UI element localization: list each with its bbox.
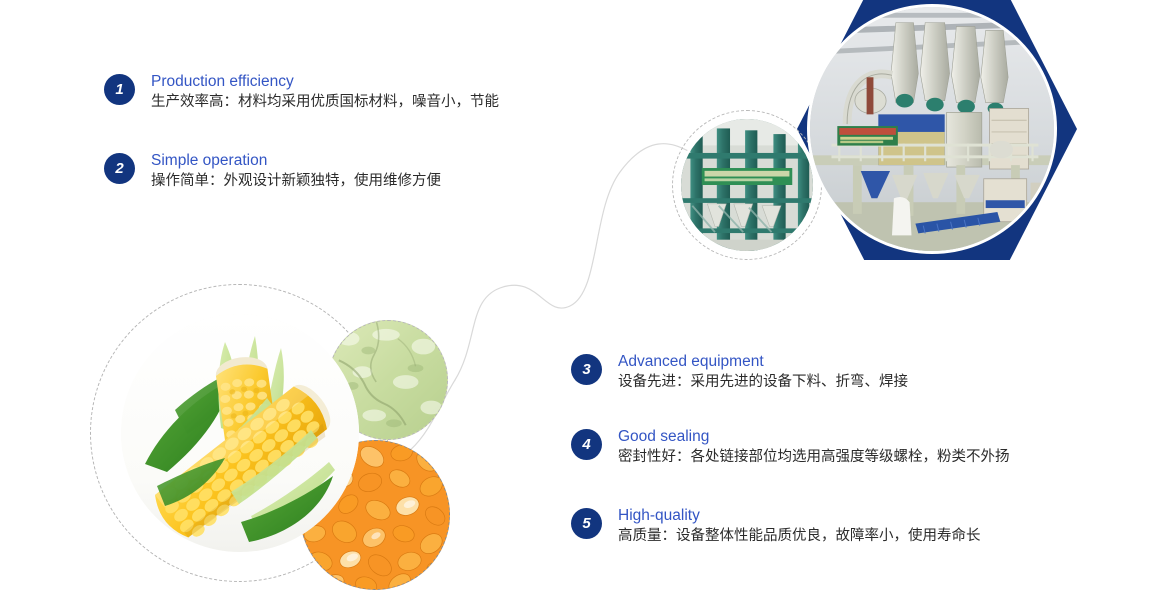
feature-text-block: Simple operation 操作简单：外观设计新颖独特，使用维修方便 [151,151,441,192]
feature-number-badge: 1 [104,74,135,105]
produce-photo-group [88,280,478,591]
feature-title: Simple operation [151,151,441,170]
feature-description: 高质量：设备整体性能品质优良，故障率小，使用寿命长 [618,526,981,547]
feature-text-block: Production efficiency 生产效率高：材料均采用优质国标材料，… [151,72,499,113]
hexagon-photo-group [672,0,1154,270]
feature-title: Production efficiency [151,72,499,91]
feature-description: 操作简单：外观设计新颖独特，使用维修方便 [151,171,441,192]
feature-number-badge: 5 [571,508,602,539]
feature-description: 设备先进：采用先进的设备下料、折弯、焊接 [618,372,908,393]
feature-item-3[interactable]: 3 Advanced equipment 设备先进：采用先进的设备下料、折弯、焊… [571,352,908,393]
feature-number-badge: 2 [104,153,135,184]
corn-cob-photo [121,314,359,552]
feature-number-badge: 4 [571,429,602,460]
flour-mill-photo [807,4,1057,254]
feature-title: High-quality [618,506,981,525]
feature-title: Good sealing [618,427,1010,446]
feature-infographic-page: 1 Production efficiency 生产效率高：材料均采用优质国标材… [0,0,1154,591]
feature-item-1[interactable]: 1 Production efficiency 生产效率高：材料均采用优质国标材… [104,72,499,113]
feature-description: 生产效率高：材料均采用优质国标材料，噪音小，节能 [151,92,499,113]
feature-item-4[interactable]: 4 Good sealing 密封性好：各处链接部位均选用高强度等级螺栓，粉类不… [571,427,1010,468]
feature-item-2[interactable]: 2 Simple operation 操作简单：外观设计新颖独特，使用维修方便 [104,151,441,192]
feature-text-block: Good sealing 密封性好：各处链接部位均选用高强度等级螺栓，粉类不外扬 [618,427,1010,468]
green-machinery-photo [678,116,816,254]
feature-text-block: Advanced equipment 设备先进：采用先进的设备下料、折弯、焊接 [618,352,908,393]
feature-number-badge: 3 [571,354,602,385]
feature-description: 密封性好：各处链接部位均选用高强度等级螺栓，粉类不外扬 [618,447,1010,468]
feature-title: Advanced equipment [618,352,908,371]
feature-text-block: High-quality 高质量：设备整体性能品质优良，故障率小，使用寿命长 [618,506,981,547]
feature-item-5[interactable]: 5 High-quality 高质量：设备整体性能品质优良，故障率小，使用寿命长 [571,506,981,547]
